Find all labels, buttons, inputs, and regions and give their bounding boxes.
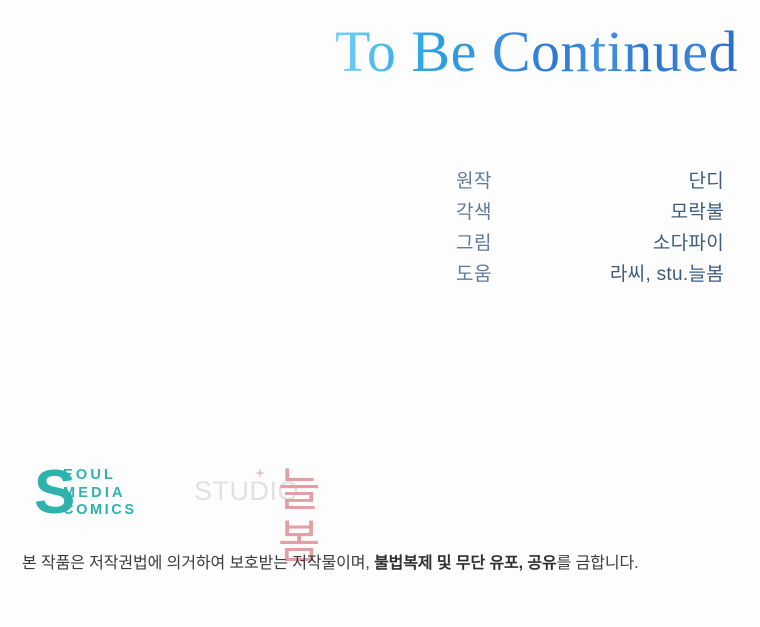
seoul-media-comics-logo: S EOUL MEDIA COMICS [34, 462, 158, 524]
copyright-notice: 본 작품은 저작권법에 의거하여 보호받는 저작물이며, 불법복제 및 무단 유… [22, 553, 638, 575]
credit-person-name: 단디 [688, 166, 724, 193]
title-block: To Be Continued [0, 22, 738, 83]
credit-person-name: 소다파이 [653, 228, 724, 255]
sparkle-icon [254, 466, 266, 478]
credit-person-name: 라씨, stu.늘봄 [610, 259, 724, 286]
credit-role-label: 도움 [456, 259, 492, 286]
credit-role-label: 그림 [456, 228, 492, 255]
credit-row: 도움 라씨, stu.늘봄 [456, 259, 724, 290]
smc-line-comics: COMICS [63, 502, 137, 520]
credit-person-name: 모락불 [671, 197, 724, 224]
to-be-continued-title: To Be Continued [335, 22, 738, 83]
credit-role-label: 원작 [456, 166, 492, 193]
smc-line-eoul: EOUL [63, 467, 137, 485]
credits-list: 원작 단디 각색 모락불 그림 소다파이 도움 라씨, stu.늘봄 [456, 166, 724, 290]
copyright-text-part2: 를 금합니다. [557, 555, 639, 572]
smc-wordmark: EOUL MEDIA COMICS [63, 467, 137, 520]
copyright-text-part1: 본 작품은 저작권법에 의거하여 보호받는 저작물이며, [22, 555, 374, 572]
credit-row: 각색 모락불 [456, 197, 724, 228]
studio-neulbom-logo: STUDIO 늘봄 [194, 462, 344, 526]
credit-role-label: 각색 [456, 197, 492, 224]
credit-row: 그림 소다파이 [456, 228, 724, 259]
copyright-text-emphasis: 불법복제 및 무단 유포, 공유 [374, 555, 557, 572]
smc-line-media: MEDIA [63, 485, 137, 503]
credit-row: 원작 단디 [456, 166, 724, 197]
publisher-logo-row: S EOUL MEDIA COMICS STUDIO 늘봄 [34, 462, 344, 530]
